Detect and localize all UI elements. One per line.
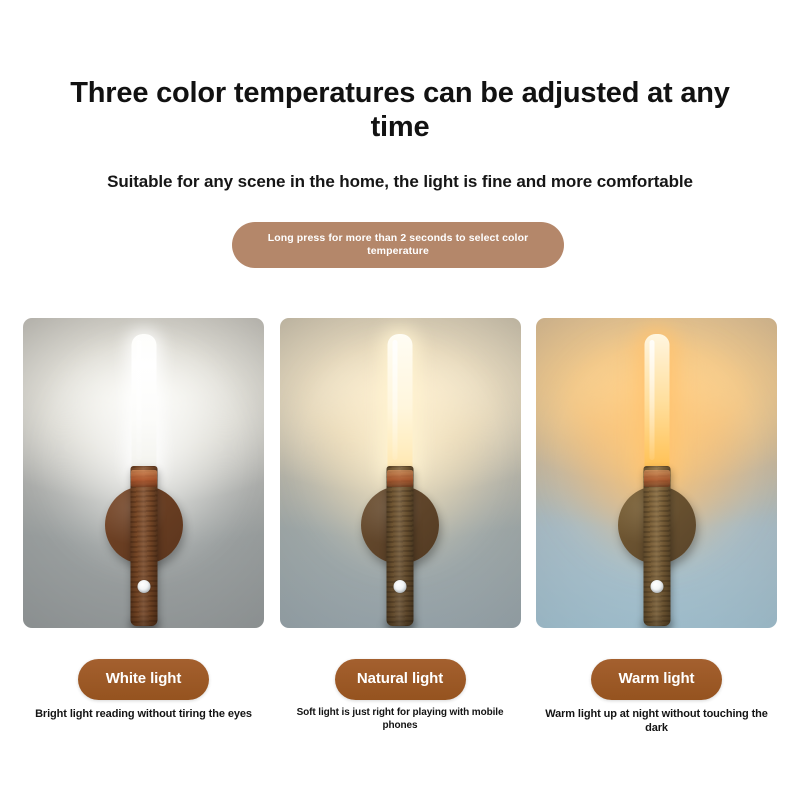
tube-highlight bbox=[649, 340, 654, 460]
wooden-body-bar bbox=[130, 466, 157, 626]
light-tube bbox=[131, 334, 156, 474]
mode-pill-white-light[interactable]: White light bbox=[78, 659, 209, 700]
sensor-button-icon bbox=[650, 580, 663, 593]
lamp-drop-shadow bbox=[383, 620, 417, 628]
page-subtitle: Suitable for any scene in the home, the … bbox=[30, 172, 770, 192]
tube-wood-collar bbox=[131, 470, 157, 487]
tube-wood-collar bbox=[644, 470, 670, 487]
tube-wood-collar bbox=[387, 470, 413, 487]
light-tube bbox=[388, 334, 413, 474]
light-tube bbox=[644, 334, 669, 474]
wall-lamp-warm bbox=[634, 334, 680, 626]
product-photo-white-light bbox=[23, 318, 264, 628]
product-feature-page: Three color temperatures can be adjusted… bbox=[0, 0, 800, 800]
mode-label-row: White light Natural light Warm light bbox=[23, 659, 777, 700]
page-title: Three color temperatures can be adjusted… bbox=[50, 76, 750, 144]
lamp-drop-shadow bbox=[640, 620, 674, 628]
mode-label-cell-warm: Warm light bbox=[536, 659, 777, 700]
mode-pill-warm-light[interactable]: Warm light bbox=[591, 659, 722, 700]
wooden-body-bar bbox=[387, 466, 414, 626]
mode-label-cell-natural: Natural light bbox=[280, 659, 521, 700]
sensor-button-icon bbox=[394, 580, 407, 593]
mode-label-cell-white: White light bbox=[23, 659, 264, 700]
product-photo-warm-light bbox=[536, 318, 777, 628]
mode-caption-natural-light: Soft light is just right for playing wit… bbox=[280, 707, 521, 735]
instruction-banner: Long press for more than 2 seconds to se… bbox=[232, 222, 564, 268]
wall-lamp-natural bbox=[377, 334, 423, 626]
mode-pill-natural-light[interactable]: Natural light bbox=[335, 659, 466, 700]
tube-highlight bbox=[393, 340, 398, 460]
product-photo-row bbox=[23, 318, 777, 628]
product-photo-natural-light bbox=[280, 318, 521, 628]
tube-highlight bbox=[136, 340, 141, 460]
mode-caption-warm-light: Warm light up at night without touching … bbox=[536, 707, 777, 735]
wooden-body-bar bbox=[643, 466, 670, 626]
mode-caption-row: Bright light reading without tiring the … bbox=[23, 707, 777, 735]
sensor-button-icon bbox=[137, 580, 150, 593]
wall-lamp-white bbox=[121, 334, 167, 626]
instruction-banner-text: Long press for more than 2 seconds to se… bbox=[254, 232, 542, 258]
mode-caption-white-light: Bright light reading without tiring the … bbox=[23, 707, 264, 735]
lamp-drop-shadow bbox=[127, 620, 161, 628]
